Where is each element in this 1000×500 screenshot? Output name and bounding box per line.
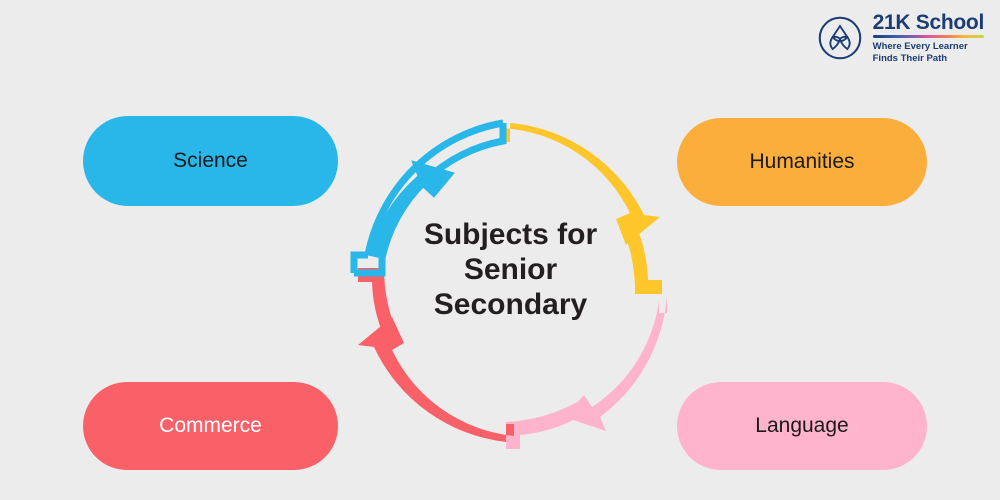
lotus-circle-logo-icon [817,15,863,61]
brand-logo: 21K School Where Every Learner Finds The… [817,12,984,65]
node-science[interactable]: Science [83,116,338,206]
brand-gradient-rule [873,35,984,38]
brand-tagline-line2: Finds Their Path [873,53,968,65]
node-science-label: Science [173,149,248,173]
brand-tagline-line1: Where Every Learner [873,41,968,53]
page-title: Subjects for Senior Secondary [393,218,628,322]
node-humanities-label: Humanities [749,150,854,174]
node-language[interactable]: Language [677,382,927,470]
node-commerce-label: Commerce [159,414,262,438]
brand-name: 21K School [873,12,984,33]
node-commerce[interactable]: Commerce [83,382,338,470]
node-humanities[interactable]: Humanities [677,118,927,206]
infographic-canvas: 21K School Where Every Learner Finds The… [0,0,1000,500]
node-language-label: Language [755,414,848,438]
brand-tagline: Where Every Learner Finds Their Path [873,41,968,65]
brand-logo-text: 21K School Where Every Learner Finds The… [873,12,984,65]
